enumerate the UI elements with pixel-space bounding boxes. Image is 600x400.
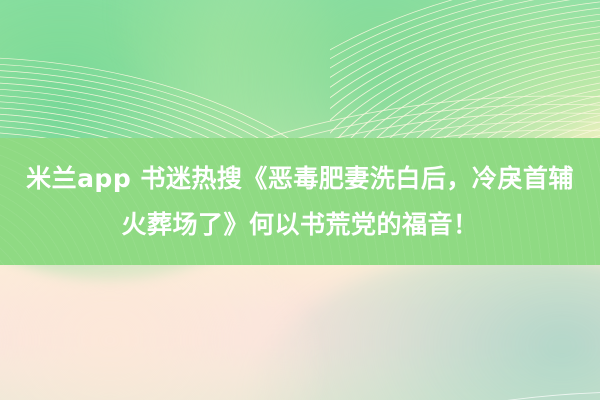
headline-line-2: 火葬场了》何以书荒党的福音！ (121, 202, 478, 248)
promo-banner: 米兰app 书迷热搜《恶毒肥妻洗白后，冷戾首辅 火葬场了》何以书荒党的福音！ (0, 0, 600, 400)
headline-line-1: 米兰app 书迷热搜《恶毒肥妻洗白后，冷戾首辅 (26, 156, 574, 202)
headline-band: 米兰app 书迷热搜《恶毒肥妻洗白后，冷戾首辅 火葬场了》何以书荒党的福音！ (0, 138, 600, 265)
